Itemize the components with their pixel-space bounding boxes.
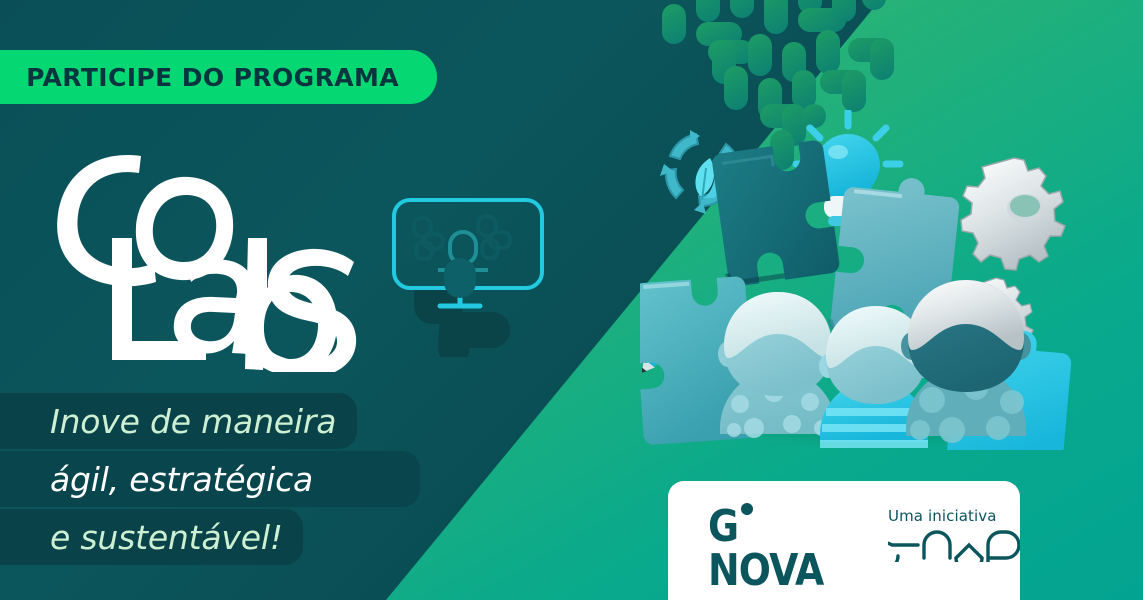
gnova-wordmark: G NOVA xyxy=(708,505,840,593)
collaboration-watermark-icon xyxy=(388,192,548,357)
puzzle-piece-dark xyxy=(711,139,841,287)
tagline-line-1: Inove de maneira xyxy=(0,393,357,449)
enap-wordmark xyxy=(888,528,1020,566)
gear-large-icon xyxy=(961,158,1065,270)
program-badge[interactable]: PARTICIPE DO PROGRAMA xyxy=(0,50,437,104)
footer-logo-card: G NOVA Uma iniciativa xyxy=(668,481,1020,600)
banner-canvas: PARTICIPE DO PROGRAMA xyxy=(0,0,1143,600)
tagline-line-2-text: ágil, estratégica xyxy=(50,460,313,499)
enap-logo-block: Uma iniciativa xyxy=(888,505,1020,566)
enap-caption: Uma iniciativa xyxy=(888,507,1020,525)
tagline-line-1-text: Inove de maneira xyxy=(50,402,336,441)
tagline-block: Inove de maneira ágil, estratégica e sus… xyxy=(0,393,420,567)
program-badge-label: PARTICIPE DO PROGRAMA xyxy=(26,63,399,92)
tagline-line-2: ágil, estratégica xyxy=(0,451,420,507)
collaboration-illustration xyxy=(640,110,1090,450)
person-figure-right xyxy=(901,280,1031,443)
tagline-line-3: e sustentável! xyxy=(0,509,303,565)
colabs-logo xyxy=(38,122,368,372)
footer-logo-row: G NOVA Uma iniciativa xyxy=(708,505,1020,593)
tagline-line-3-text: e sustentável! xyxy=(50,518,283,557)
gnova-logo: G NOVA xyxy=(708,505,862,593)
